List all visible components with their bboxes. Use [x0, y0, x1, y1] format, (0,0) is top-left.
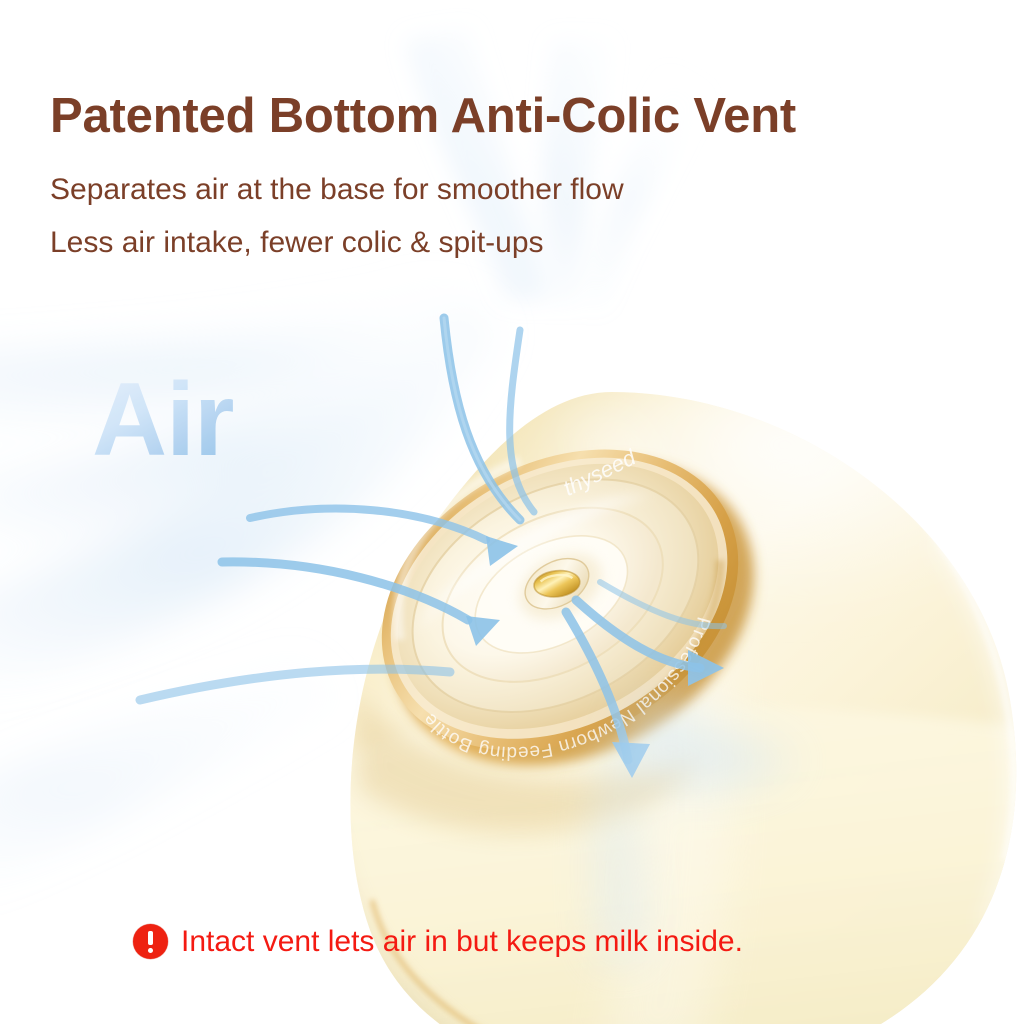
page-title: Patented Bottom Anti-Colic Vent	[50, 90, 970, 143]
anti-colic-vent	[508, 540, 613, 633]
brand-text: thyseed	[559, 444, 640, 501]
svg-text:Professional Newborn Feeding B: Professional Newborn Feeding Bottle	[419, 614, 714, 763]
subtitle-line-1: Separates air at the base for smoother f…	[50, 175, 624, 205]
base-ring-text-path: Professional Newborn Feeding Bottle	[419, 614, 714, 763]
background-haze	[0, 0, 1024, 1024]
exclamation-icon	[133, 924, 168, 959]
base-ring-text: Professional Newborn Feeding Bottle	[419, 614, 714, 763]
airflow-arrowheads	[466, 536, 518, 646]
footer-caption-text: Intact vent lets air in but keeps milk i…	[181, 927, 743, 957]
bottle-base-rim	[327, 385, 807, 826]
bottle-illustration: Professional Newborn Feeding Bottle thys…	[0, 0, 1024, 1024]
headline-block: Patented Bottom Anti-Colic Vent	[50, 90, 970, 143]
air-label: Air	[92, 368, 233, 472]
airflow-exit-arrowheads	[612, 650, 724, 778]
subtitle-line-2: Less air intake, fewer colic & spit-ups	[50, 228, 544, 258]
airflow-exit	[566, 582, 724, 760]
promo-image: Patented Bottom Anti-Colic Vent Separate…	[0, 0, 1024, 1024]
brand-emboss: thyseed	[559, 444, 640, 501]
footer-caption: Intact vent lets air in but keeps milk i…	[133, 924, 743, 959]
vent-hole	[533, 568, 581, 599]
bottle-base-plate	[372, 432, 738, 758]
